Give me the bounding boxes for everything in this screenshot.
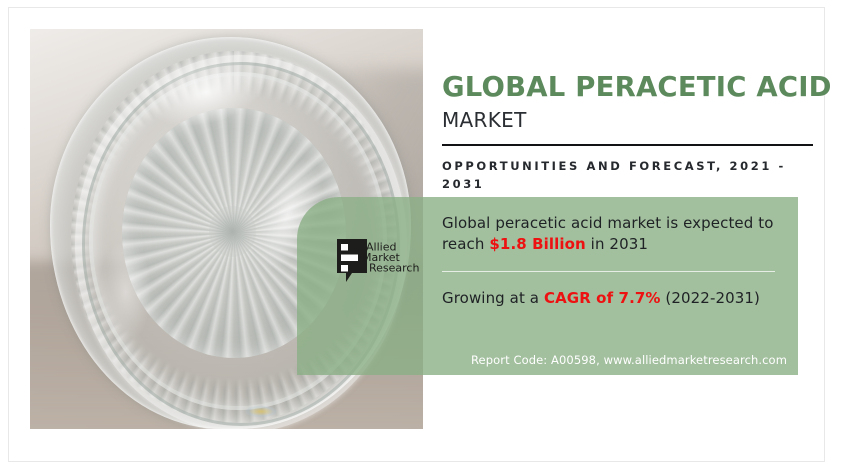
report-title-main: GLOBAL PERACETIC ACID [442, 73, 814, 102]
glass-highlight-left [100, 241, 151, 343]
stat-market-value: Global peracetic acid market is expected… [442, 213, 782, 254]
report-code-footer: Report Code: A00598, www.alliedmarketres… [471, 353, 787, 367]
logo-text-line3: Research [369, 262, 419, 275]
title-divider [442, 144, 813, 146]
stat-2-highlight: CAGR of 7.7% [544, 289, 661, 307]
glass-center-point [209, 206, 256, 257]
stat-cagr: Growing at a CAGR of 7.7% (2022-2031) [442, 288, 782, 309]
stat-1-suffix: in 2031 [586, 235, 648, 253]
stat-1-highlight: $1.8 Billion [489, 235, 585, 253]
stat-2-suffix: (2022-2031) [661, 289, 760, 307]
stats-text-block: Global peracetic acid market is expected… [442, 213, 782, 309]
allied-market-research-logo-icon: Allied Market Research [336, 238, 424, 284]
stats-divider [442, 271, 775, 272]
stat-2-prefix: Growing at a [442, 289, 544, 307]
report-kicker: OPPORTUNITIES AND FORECAST, 2021 - 2031 [442, 158, 814, 194]
infographic-canvas: GLOBAL PERACETIC ACID MARKET OPPORTUNITI… [0, 0, 847, 470]
report-title-sub: MARKET [442, 108, 814, 132]
stats-panel: Allied Market Research Global peracetic … [297, 197, 798, 375]
report-header-column: GLOBAL PERACETIC ACID MARKET OPPORTUNITI… [442, 29, 814, 194]
